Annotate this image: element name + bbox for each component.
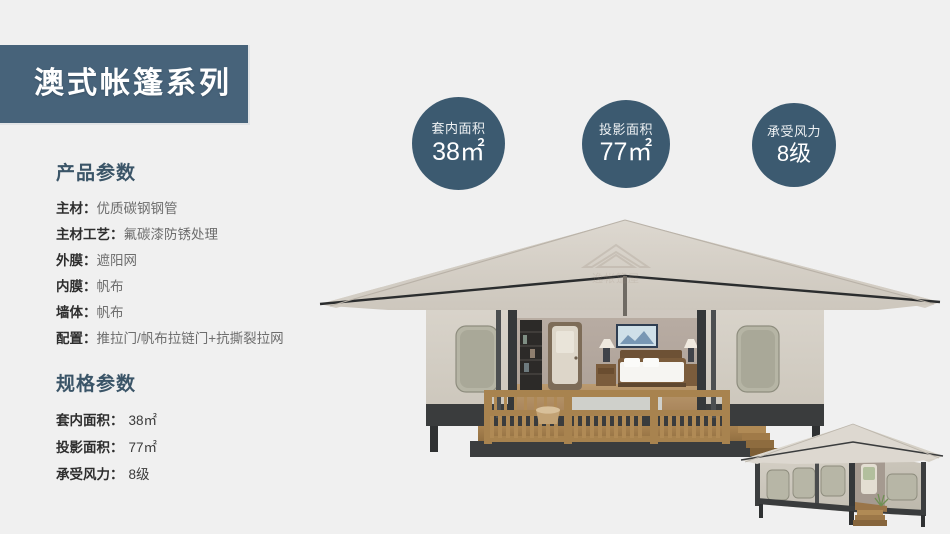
param-label: 外膜： bbox=[56, 253, 97, 268]
title-banner: 澳式帐篷系列 bbox=[0, 45, 250, 125]
param-value: 遮阳网 bbox=[97, 253, 138, 268]
stat-unit: ㎡ bbox=[627, 138, 652, 166]
page-title: 澳式帐篷系列 bbox=[16, 69, 232, 99]
stat-badge-projected-area: 投影面积 77㎡ bbox=[582, 100, 670, 188]
param-label: 配置： bbox=[56, 331, 97, 346]
stat-badge-wind-resistance: 承受风力 8级 bbox=[752, 103, 836, 187]
param-label: 墙体： bbox=[56, 305, 97, 320]
param-value: 氟碳漆防锈处理 bbox=[124, 227, 219, 242]
stat-number: 8级 bbox=[777, 141, 811, 166]
param-value: 帆布 bbox=[97, 279, 124, 294]
spec-value: 77㎡ bbox=[124, 440, 158, 455]
spec-value: 38㎡ bbox=[124, 413, 158, 428]
stat-badge-interior-area: 套内面积 38㎡ bbox=[412, 97, 505, 190]
stat-number: 38 bbox=[432, 138, 460, 166]
product-params-heading: 产品参数 bbox=[56, 163, 376, 186]
spec-label: 投影面积： bbox=[56, 440, 124, 455]
secondary-tent-illustration bbox=[735, 412, 950, 534]
param-value: 优质碳钢钢管 bbox=[97, 201, 178, 216]
stat-label: 套内面积 bbox=[431, 122, 485, 136]
param-label: 内膜： bbox=[56, 279, 97, 294]
param-value: 推拉门/帆布拉链门+抗撕裂拉网 bbox=[97, 331, 284, 346]
stat-label: 承受风力 bbox=[767, 125, 821, 139]
stat-value: 8级 bbox=[777, 143, 811, 165]
param-value: 帆布 bbox=[97, 305, 124, 320]
stat-number: 77 bbox=[600, 138, 628, 166]
stat-label: 投影面积 bbox=[599, 123, 653, 137]
stat-value: 77㎡ bbox=[600, 140, 653, 165]
param-label: 主材工艺： bbox=[56, 227, 124, 242]
stat-unit: ㎡ bbox=[460, 138, 485, 166]
spec-label: 套内面积： bbox=[56, 413, 124, 428]
param-label: 主材： bbox=[56, 201, 97, 216]
stat-value: 38㎡ bbox=[432, 140, 485, 165]
spec-value: 8级 bbox=[124, 467, 150, 482]
slide-canvas: 澳式帐篷系列 产品参数 主材：优质碳钢钢管 主材工艺：氟碳漆防锈处理 外膜：遮阳… bbox=[0, 0, 950, 534]
spec-label: 承受风力： bbox=[56, 467, 124, 482]
